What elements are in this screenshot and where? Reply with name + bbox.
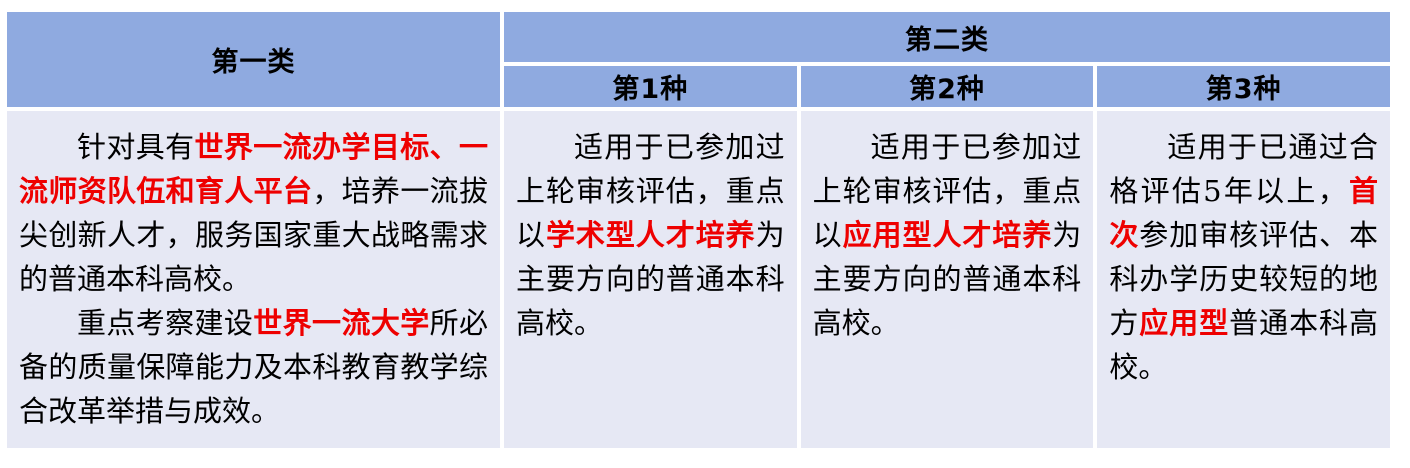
emphasized-text: 应用型人才培养 — [843, 218, 1053, 252]
paragraph: 适用于已通过合格评估5年以上，首次参加审核评估、本科办学历史较短的地方应用型普通… — [1109, 125, 1378, 389]
paragraph: 适用于已参加过上轮审核评估，重点以学术型人才培养为主要方向的普通本科高校。 — [516, 125, 785, 345]
header-subtype-2: 第2种 — [801, 66, 1094, 107]
cell-category-one-description: 针对具有世界一流办学目标、一流师资队伍和育人平台，培养一流拔尖创新人才，服务国家… — [7, 111, 500, 448]
emphasized-text: 世界一流大学 — [253, 306, 429, 340]
classification-table-container: 第一类 第二类 第1种 第2种 第3种 针对具有世界一流办学目标、一流师资队伍和… — [7, 12, 1398, 456]
header-category-two: 第二类 — [504, 12, 1390, 62]
header-subtype-3: 第3种 — [1097, 66, 1390, 107]
cell-subtype-1-description: 适用于已参加过上轮审核评估，重点以学术型人才培养为主要方向的普通本科高校。 — [504, 111, 797, 448]
emphasized-text: 应用型 — [1139, 306, 1229, 340]
paragraph: 重点考察建设世界一流大学所必备的质量保障能力及本科教育教学综合改革举措与成效。 — [19, 301, 488, 433]
header-subtype-1: 第1种 — [504, 66, 797, 107]
paragraph: 适用于已参加过上轮审核评估，重点以应用型人才培养为主要方向的普通本科高校。 — [813, 125, 1082, 345]
evaluation-classification-table: 第一类 第二类 第1种 第2种 第3种 针对具有世界一流办学目标、一流师资队伍和… — [3, 8, 1394, 452]
body-text: 重点考察建设 — [77, 306, 253, 340]
table-header-row-1: 第一类 第二类 — [7, 12, 1390, 62]
body-text: 适用于已通过合格评估5年以上， — [1109, 130, 1378, 208]
table-body-row: 针对具有世界一流办学目标、一流师资队伍和育人平台，培养一流拔尖创新人才，服务国家… — [7, 111, 1390, 448]
cell-subtype-3-description: 适用于已通过合格评估5年以上，首次参加审核评估、本科办学历史较短的地方应用型普通… — [1097, 111, 1390, 448]
emphasized-text: 学术型人才培养 — [546, 218, 756, 252]
paragraph: 针对具有世界一流办学目标、一流师资队伍和育人平台，培养一流拔尖创新人才，服务国家… — [19, 125, 488, 301]
body-text: 针对具有 — [77, 130, 195, 164]
cell-subtype-2-description: 适用于已参加过上轮审核评估，重点以应用型人才培养为主要方向的普通本科高校。 — [801, 111, 1094, 448]
header-category-one: 第一类 — [7, 12, 500, 107]
